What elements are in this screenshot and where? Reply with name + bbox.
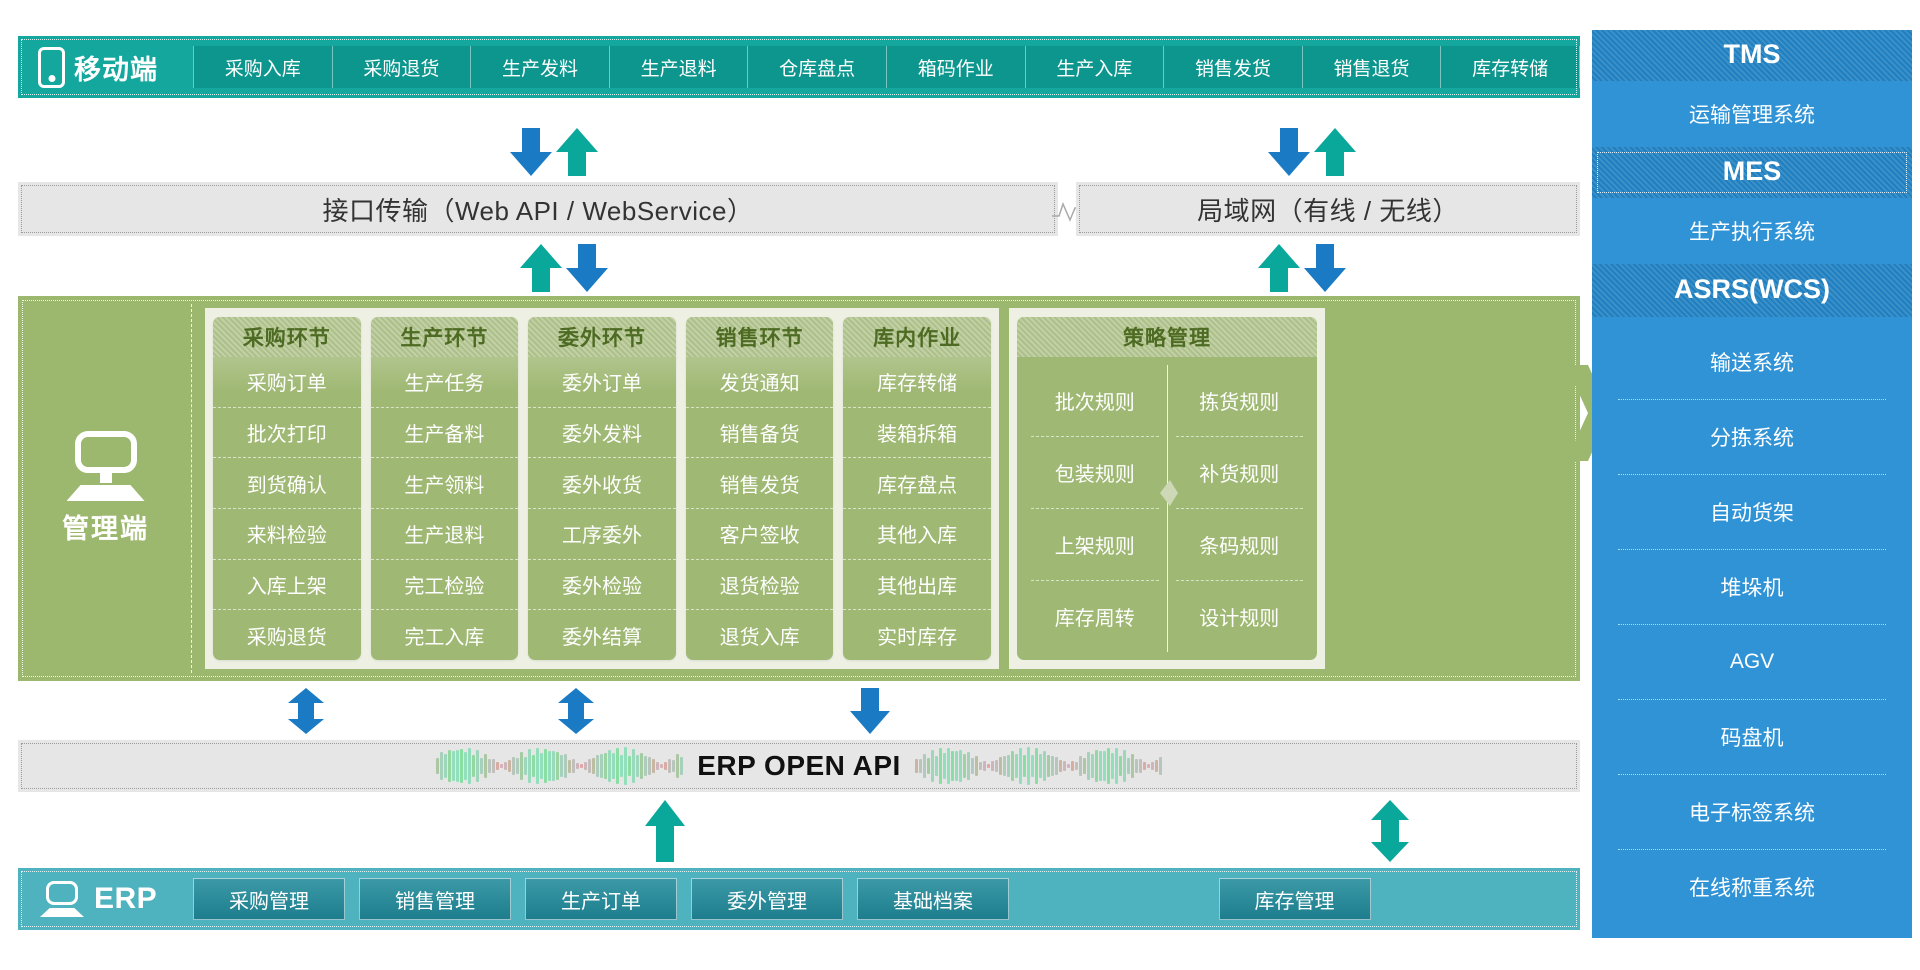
strategy-item[interactable]: 补货规则 bbox=[1176, 436, 1304, 508]
asrs-item[interactable]: 在线称重系统 bbox=[1618, 849, 1886, 924]
column-item[interactable]: 到货确认 bbox=[213, 457, 361, 508]
column-item[interactable]: 生产退料 bbox=[371, 508, 519, 559]
strategy-item[interactable]: 上架规则 bbox=[1031, 508, 1159, 580]
strategy-item[interactable]: 设计规则 bbox=[1176, 580, 1304, 652]
column-item[interactable]: 生产备料 bbox=[371, 407, 519, 458]
erp-bar: ERP 采购管理 销售管理 生产订单 委外管理 基础档案 库存管理 bbox=[18, 868, 1580, 930]
mobile-item[interactable]: 仓库盘点 bbox=[748, 46, 887, 88]
column-item[interactable]: 工序委外 bbox=[528, 508, 676, 559]
desktop-monitor-icon bbox=[67, 431, 145, 501]
arrow-up-teal bbox=[1258, 244, 1300, 292]
mobile-item[interactable]: 采购入库 bbox=[193, 46, 333, 88]
waveform-right-icon bbox=[915, 744, 1162, 788]
module-cards-area: 采购环节 采购订单 批次打印 到货确认 来料检验 入库上架 采购退货 生产环节 bbox=[193, 296, 1580, 681]
column-item[interactable]: 退货入库 bbox=[686, 609, 834, 660]
column-title: 生产环节 bbox=[371, 317, 519, 357]
column-item[interactable]: 完工检验 bbox=[371, 559, 519, 610]
asrs-item[interactable]: 电子标签系统 bbox=[1618, 774, 1886, 849]
erp-title: ERP bbox=[94, 882, 157, 916]
module-column-production[interactable]: 生产环节 生产任务 生产备料 生产领料 生产退料 完工检验 完工入库 bbox=[371, 317, 519, 660]
arrow-double-vertical-blue bbox=[286, 688, 326, 734]
column-item[interactable]: 生产任务 bbox=[371, 357, 519, 407]
mobile-item[interactable]: 生产发料 bbox=[471, 46, 610, 88]
column-item[interactable]: 入库上架 bbox=[213, 559, 361, 610]
interface-transport-box: 接口传输（Web API / WebService） bbox=[18, 182, 1058, 236]
erp-open-api-label: ERP OPEN API bbox=[697, 750, 901, 782]
management-label: 管理端 bbox=[62, 507, 149, 546]
module-column-sales[interactable]: 销售环节 发货通知 销售备货 销售发货 客户签收 退货检验 退货入库 bbox=[686, 317, 834, 660]
arrow-double-vertical-blue bbox=[556, 688, 596, 734]
mobile-brand: 移动端 bbox=[18, 47, 193, 88]
column-item[interactable]: 退货检验 bbox=[686, 559, 834, 610]
mobile-item[interactable]: 销售退货 bbox=[1303, 46, 1442, 88]
column-item[interactable]: 生产领料 bbox=[371, 457, 519, 508]
erp-brand: ERP bbox=[18, 881, 193, 917]
asrs-item[interactable]: 码盘机 bbox=[1618, 699, 1886, 774]
strategy-title: 策略管理 bbox=[1017, 317, 1317, 357]
column-item[interactable]: 库存转储 bbox=[843, 357, 991, 407]
lan-box: 局域网（有线 / 无线） bbox=[1076, 182, 1580, 236]
asrs-item[interactable]: 堆垛机 bbox=[1618, 549, 1886, 624]
column-item[interactable]: 销售发货 bbox=[686, 457, 834, 508]
arrow-double-vertical-teal bbox=[1370, 800, 1410, 862]
arrow-up-teal bbox=[645, 800, 685, 862]
module-column-purchase[interactable]: 采购环节 采购订单 批次打印 到货确认 来料检验 入库上架 采购退货 bbox=[213, 317, 361, 660]
interface-transport-label: 接口传输（Web API / WebService） bbox=[322, 191, 753, 228]
arrow-up-teal bbox=[1314, 128, 1356, 176]
strategy-item[interactable]: 拣货规则 bbox=[1176, 365, 1304, 436]
column-item[interactable]: 完工入库 bbox=[371, 609, 519, 660]
management-panel: 管理端 采购环节 采购订单 批次打印 到货确认 来料检验 入库上架 采购退货 bbox=[18, 296, 1580, 681]
column-item[interactable]: 采购订单 bbox=[213, 357, 361, 407]
arrow-down-blue bbox=[850, 688, 890, 734]
column-item[interactable]: 发货通知 bbox=[686, 357, 834, 407]
erp-item[interactable]: 生产订单 bbox=[525, 878, 677, 920]
column-title: 库内作业 bbox=[843, 317, 991, 357]
asrs-item[interactable]: 分拣系统 bbox=[1618, 399, 1886, 474]
column-item[interactable]: 其他入库 bbox=[843, 508, 991, 559]
mes-header[interactable]: MES bbox=[1592, 147, 1912, 198]
arrow-up-teal bbox=[520, 244, 562, 292]
strategy-column-left: 批次规则 包装规则 上架规则 库存周转 bbox=[1023, 365, 1167, 652]
mobile-item[interactable]: 销售发货 bbox=[1164, 46, 1303, 88]
arrow-up-teal bbox=[556, 128, 598, 176]
external-systems-panel: TMS 运输管理系统 MES 生产执行系统 ASRS(WCS) 输送系统 分拣系… bbox=[1592, 30, 1912, 938]
mobile-item[interactable]: 采购退货 bbox=[333, 46, 472, 88]
column-item[interactable]: 客户签收 bbox=[686, 508, 834, 559]
erp-item[interactable]: 基础档案 bbox=[857, 878, 1009, 920]
module-column-warehouse-ops[interactable]: 库内作业 库存转储 装箱拆箱 库存盘点 其他入库 其他出库 实时库存 bbox=[843, 317, 991, 660]
smartphone-icon bbox=[38, 47, 65, 88]
column-item[interactable]: 委外结算 bbox=[528, 609, 676, 660]
diagram-canvas: 移动端 采购入库 采购退货 生产发料 生产退料 仓库盘点 箱码作业 生产入库 销… bbox=[0, 0, 1920, 970]
strategy-column-right: 拣货规则 补货规则 条码规则 设计规则 bbox=[1167, 365, 1312, 652]
mobile-item[interactable]: 库存转储 bbox=[1441, 46, 1580, 88]
column-item[interactable]: 实时库存 bbox=[843, 609, 991, 660]
mobile-item[interactable]: 生产退料 bbox=[610, 46, 749, 88]
erp-item[interactable]: 销售管理 bbox=[359, 878, 511, 920]
column-title: 销售环节 bbox=[686, 317, 834, 357]
column-title: 委外环节 bbox=[528, 317, 676, 357]
column-item[interactable]: 委外收货 bbox=[528, 457, 676, 508]
strategy-item[interactable]: 条码规则 bbox=[1176, 508, 1304, 580]
desktop-monitor-icon bbox=[40, 881, 84, 917]
asrs-item[interactable]: AGV bbox=[1618, 624, 1886, 699]
column-item[interactable]: 委外订单 bbox=[528, 357, 676, 407]
mobile-title: 移动端 bbox=[74, 48, 158, 87]
column-item[interactable]: 装箱拆箱 bbox=[843, 407, 991, 458]
arrow-down-blue bbox=[1304, 244, 1346, 292]
asrs-item[interactable]: 自动货架 bbox=[1618, 474, 1886, 549]
arrow-down-blue bbox=[510, 128, 552, 176]
divider bbox=[191, 304, 193, 673]
column-item[interactable]: 委外发料 bbox=[528, 407, 676, 458]
module-card-group: 采购环节 采购订单 批次打印 到货确认 来料检验 入库上架 采购退货 生产环节 bbox=[205, 308, 999, 669]
column-item[interactable]: 采购退货 bbox=[213, 609, 361, 660]
erp-item-list: 采购管理 销售管理 生产订单 委外管理 基础档案 库存管理 bbox=[193, 878, 1580, 920]
erp-open-api-bar: ERP OPEN API bbox=[18, 740, 1580, 792]
mobile-item[interactable]: 箱码作业 bbox=[887, 46, 1026, 88]
mobile-item[interactable]: 生产入库 bbox=[1026, 46, 1165, 88]
column-item[interactable]: 其他出库 bbox=[843, 559, 991, 610]
erp-item[interactable]: 委外管理 bbox=[691, 878, 843, 920]
erp-item[interactable]: 库存管理 bbox=[1219, 878, 1371, 920]
management-brand: 管理端 bbox=[18, 296, 193, 681]
tms-subtitle: 运输管理系统 bbox=[1592, 81, 1912, 147]
strategy-item[interactable]: 包装规则 bbox=[1031, 436, 1159, 508]
column-title: 采购环节 bbox=[213, 317, 361, 357]
mes-subtitle: 生产执行系统 bbox=[1592, 198, 1912, 264]
arrow-down-blue bbox=[1268, 128, 1310, 176]
column-item[interactable]: 委外检验 bbox=[528, 559, 676, 610]
asrs-header[interactable]: ASRS(WCS) bbox=[1592, 264, 1912, 317]
mobile-item-list: 采购入库 采购退货 生产发料 生产退料 仓库盘点 箱码作业 生产入库 销售发货 … bbox=[193, 46, 1580, 88]
column-item[interactable]: 销售备货 bbox=[686, 407, 834, 458]
column-item[interactable]: 库存盘点 bbox=[843, 457, 991, 508]
arrow-down-blue bbox=[566, 244, 608, 292]
lan-label: 局域网（有线 / 无线） bbox=[1197, 191, 1459, 228]
erp-item[interactable]: 采购管理 bbox=[193, 878, 345, 920]
mobile-client-bar: 移动端 采购入库 采购退货 生产发料 生产退料 仓库盘点 箱码作业 生产入库 销… bbox=[18, 36, 1580, 98]
waveform-left-icon bbox=[436, 744, 683, 788]
column-item[interactable]: 批次打印 bbox=[213, 407, 361, 458]
module-column-outsourcing[interactable]: 委外环节 委外订单 委外发料 委外收货 工序委外 委外检验 委外结算 bbox=[528, 317, 676, 660]
column-item[interactable]: 来料检验 bbox=[213, 508, 361, 559]
strategy-item[interactable]: 库存周转 bbox=[1031, 580, 1159, 652]
asrs-item-list: 输送系统 分拣系统 自动货架 堆垛机 AGV 码盘机 电子标签系统 在线称重系统 bbox=[1592, 317, 1912, 938]
strategy-item[interactable]: 批次规则 bbox=[1031, 365, 1159, 436]
tms-header[interactable]: TMS bbox=[1592, 30, 1912, 81]
asrs-item[interactable]: 输送系统 bbox=[1618, 325, 1886, 399]
